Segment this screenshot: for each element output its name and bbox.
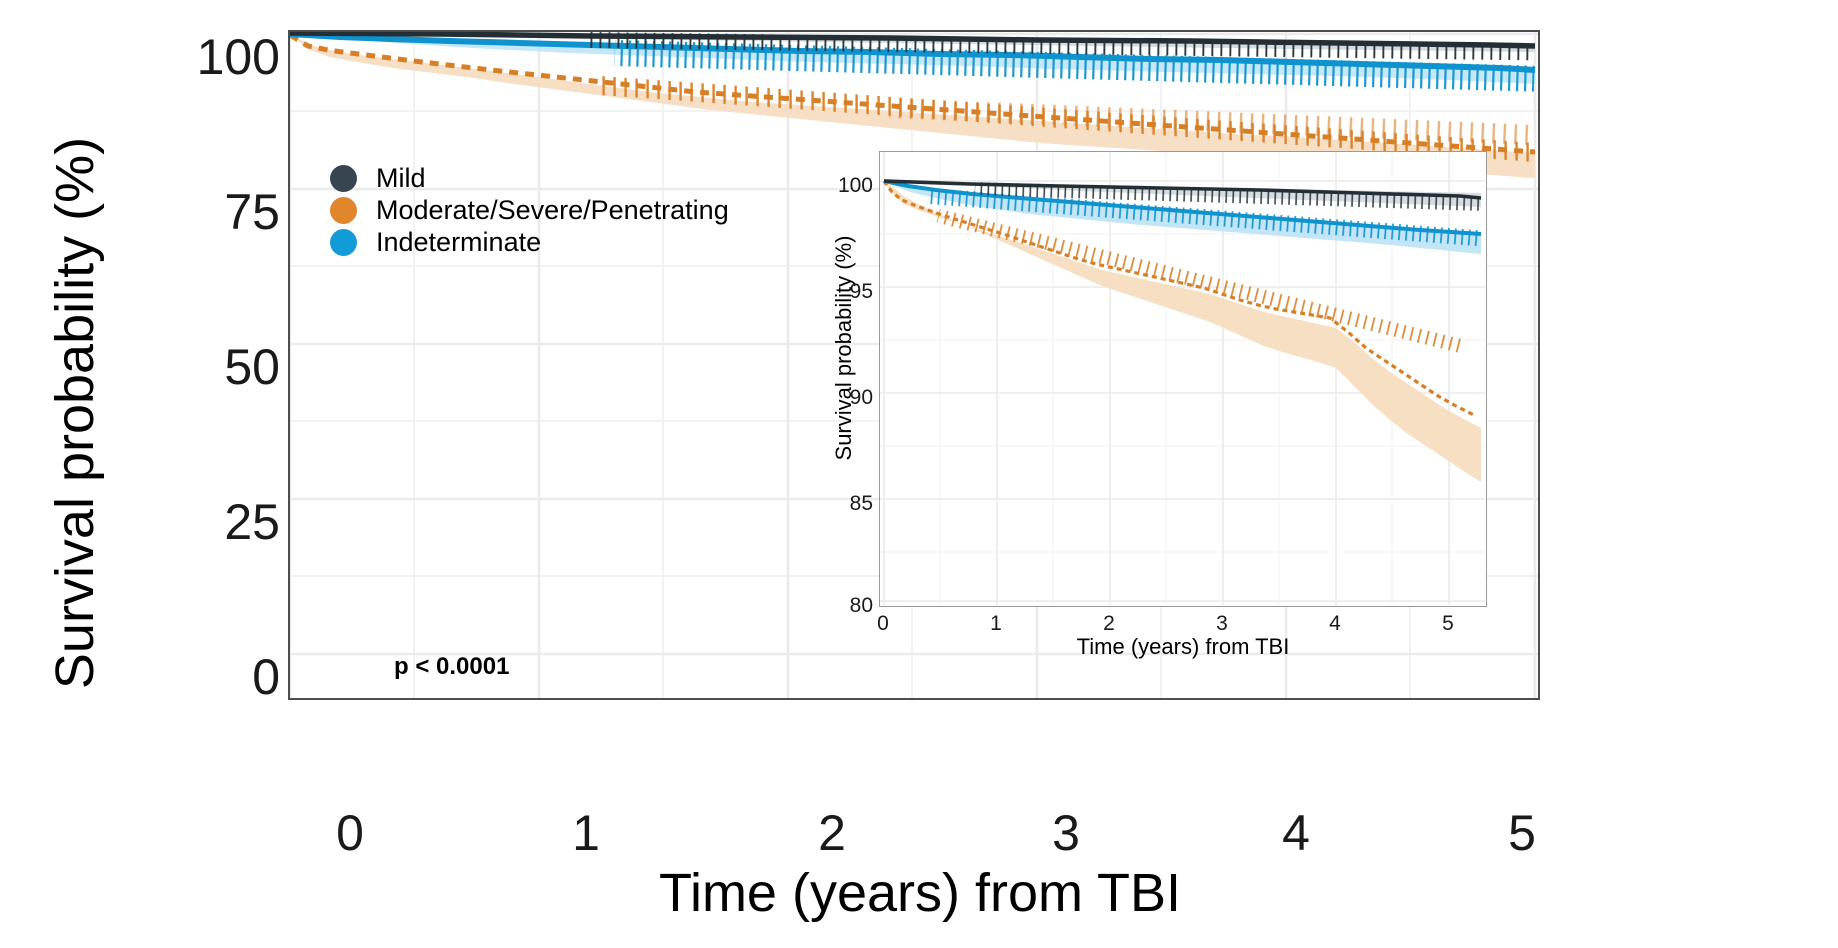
main-x-tick-3: 3 (1026, 804, 1106, 862)
inset-y-tick-100: 100 (807, 175, 873, 196)
main-y-tick-25: 25 (160, 497, 280, 547)
p-value-annotation: p < 0.0001 (394, 653, 509, 681)
inset-y-tick-95: 95 (807, 281, 873, 302)
main-x-tick-5: 5 (1482, 804, 1562, 862)
legend-item-mild[interactable]: Mild (330, 163, 729, 194)
main-x-tick-4: 4 (1256, 804, 1336, 862)
inset-y-tick-90: 90 (807, 387, 873, 408)
main-y-tick-0: 0 (160, 652, 280, 702)
inset-plot: Survival probability (%) 100 95 90 85 80 (787, 151, 1487, 671)
figure-panel: Survival probability (%) 100 75 50 25 0 (0, 0, 1838, 948)
legend: Mild Moderate/Severe/Penetrating Indeter… (330, 163, 729, 259)
legend-label-mild: Mild (376, 165, 426, 192)
main-y-tick-50: 50 (160, 342, 280, 392)
legend-swatch-mild (330, 165, 357, 192)
main-y-tick-100: 100 (160, 32, 280, 82)
main-x-tick-0: 0 (310, 804, 390, 862)
inset-y-tick-85: 85 (807, 493, 873, 514)
main-x-axis-title: Time (years) from TBI (300, 858, 1540, 928)
legend-swatch-indeterminate (330, 229, 357, 256)
inset-y-tick-labels: 100 95 90 85 80 (797, 151, 873, 607)
inset-plot-svg (880, 152, 1485, 605)
legend-label-moderate-severe-penetrating: Moderate/Severe/Penetrating (376, 197, 729, 224)
main-x-tick-2: 2 (792, 804, 872, 862)
legend-item-moderate-severe-penetrating[interactable]: Moderate/Severe/Penetrating (330, 195, 729, 226)
inset-x-axis-title: Time (years) from TBI (879, 632, 1487, 662)
main-y-axis-title: Survival probability (%) (40, 93, 110, 733)
main-y-tick-75: 75 (160, 187, 280, 237)
main-x-tick-1: 1 (546, 804, 626, 862)
inset-plot-panel (879, 151, 1487, 607)
legend-swatch-moderate-severe-penetrating (330, 197, 357, 224)
legend-label-indeterminate: Indeterminate (376, 229, 541, 256)
legend-item-indeterminate[interactable]: Indeterminate (330, 227, 729, 258)
